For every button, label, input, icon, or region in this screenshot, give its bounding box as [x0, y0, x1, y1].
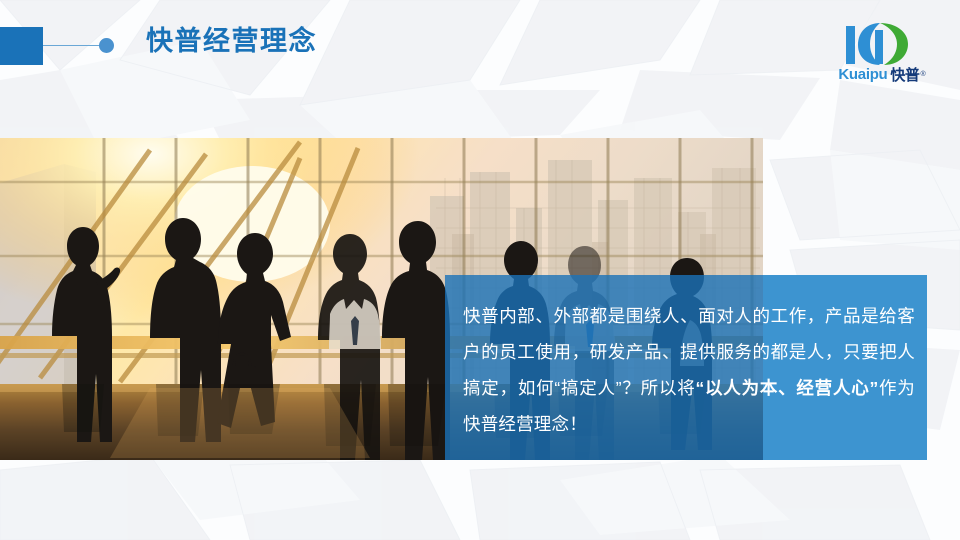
logo-chinese-text: 快普 — [890, 64, 919, 85]
quote-line-1: 快普内部、外部都是围绕人、面对人的工作，产 — [463, 306, 843, 326]
quote-highlight-phrase: “以人为本、经营人心” — [696, 378, 879, 398]
logo-wordmark: Kuaipu 快普 ® — [826, 65, 938, 84]
header-connector-dot — [99, 38, 114, 53]
quote-box: 快普内部、外部都是围绕人、面对人的工作，产品是给客户的员工使用，研发产品、提供服… — [445, 275, 927, 460]
slide-canvas: 快普经营理念 Kuaipu 快普 ® — [0, 0, 960, 540]
registered-mark-icon: ® — [920, 71, 925, 78]
kuaipu-k-logo-mark — [844, 22, 918, 66]
page-title: 快普经营理念 — [146, 22, 317, 60]
company-logo: Kuaipu 快普 ® — [826, 22, 938, 84]
logo-latin-text: Kuaipu — [838, 66, 887, 83]
quote-line-4-prefix: 将 — [677, 378, 695, 398]
header-accent-square — [0, 27, 43, 65]
header-connector-line — [43, 45, 105, 46]
quote-text: 快普内部、外部都是围绕人、面对人的工作，产品是给客户的员工使用，研发产品、提供服… — [463, 298, 915, 442]
